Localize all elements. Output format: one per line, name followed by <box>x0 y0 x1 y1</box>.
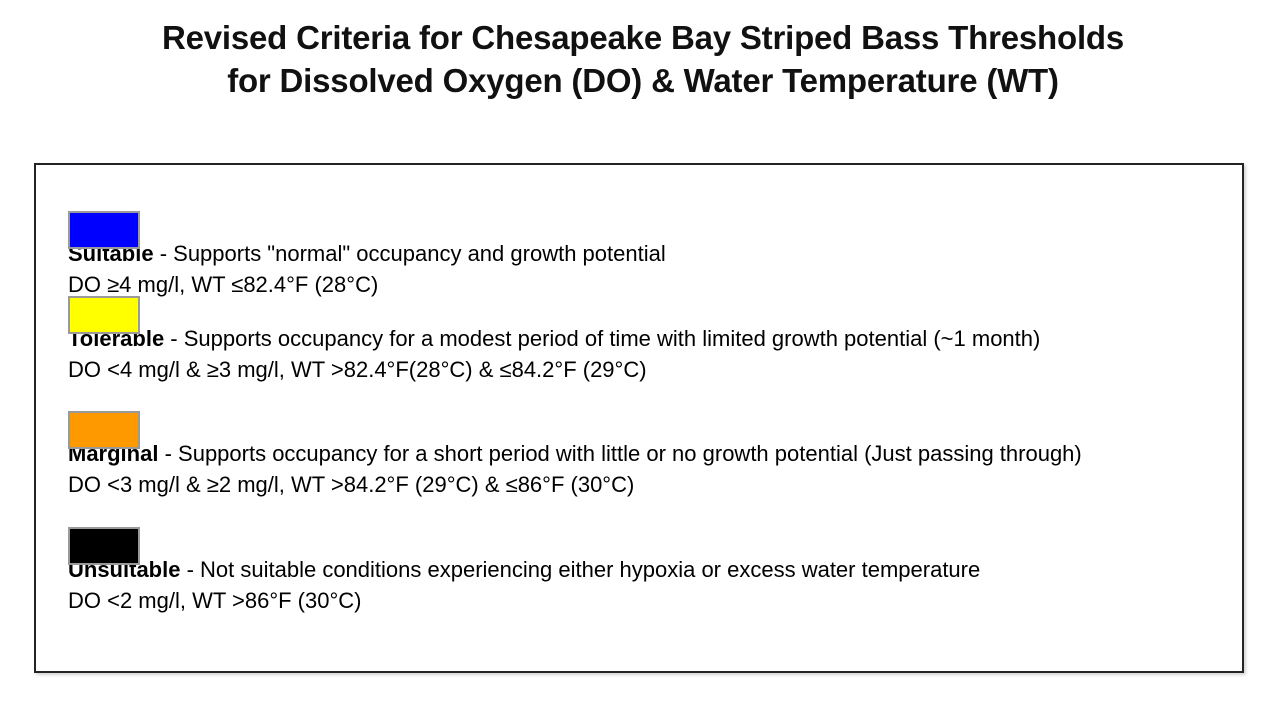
legend-description-marginal: Marginal - Supports occupancy for a shor… <box>68 438 1228 469</box>
legend-separator-marginal: - <box>158 441 178 466</box>
legend-separator-tolerable: - <box>164 326 184 351</box>
legend-thresholds-marginal: DO <3 mg/l & ≥2 mg/l, WT >84.2°F (29°C) … <box>68 469 1228 500</box>
legend-item-suitable: Suitable - Supports "normal" occupancy a… <box>68 207 1228 300</box>
legend-list: Suitable - Supports "normal" occupancy a… <box>36 165 1242 671</box>
legend-separator-unsuitable: - <box>180 557 200 582</box>
page-title: Revised Criteria for Chesapeake Bay Stri… <box>30 16 1256 102</box>
color-swatch-suitable <box>68 211 140 249</box>
color-swatch-unsuitable <box>68 527 140 565</box>
legend-desc-text-unsuitable: Not suitable conditions experiencing eit… <box>200 557 980 582</box>
legend-text-suitable: Suitable - Supports "normal" occupancy a… <box>68 238 1228 300</box>
legend-item-marginal: Marginal - Supports occupancy for a shor… <box>68 407 1228 500</box>
legend-separator-suitable: - <box>154 241 174 266</box>
legend-description-suitable: Suitable - Supports "normal" occupancy a… <box>68 238 1228 269</box>
legend-item-tolerable: Tolerable - Supports occupancy for a mod… <box>68 292 1228 385</box>
color-swatch-marginal <box>68 411 140 449</box>
slide-canvas: Revised Criteria for Chesapeake Bay Stri… <box>0 0 1286 716</box>
legend-text-marginal: Marginal - Supports occupancy for a shor… <box>68 438 1228 500</box>
legend-text-tolerable: Tolerable - Supports occupancy for a mod… <box>68 323 1228 385</box>
legend-thresholds-tolerable: DO <4 mg/l & ≥3 mg/l, WT >82.4°F(28°C) &… <box>68 354 1228 385</box>
legend-description-tolerable: Tolerable - Supports occupancy for a mod… <box>68 323 1228 354</box>
legend-desc-text-marginal: Supports occupancy for a short period wi… <box>178 441 1082 466</box>
legend-thresholds-unsuitable: DO <2 mg/l, WT >86°F (30°C) <box>68 585 1228 616</box>
page-title-line-1: Revised Criteria for Chesapeake Bay Stri… <box>30 16 1256 59</box>
legend-desc-text-tolerable: Supports occupancy for a modest period o… <box>184 326 1041 351</box>
legend-panel: Suitable - Supports "normal" occupancy a… <box>34 163 1244 673</box>
legend-desc-text-suitable: Supports "normal" occupancy and growth p… <box>173 241 666 266</box>
legend-item-unsuitable: Unsuitable - Not suitable conditions exp… <box>68 523 1228 616</box>
color-swatch-tolerable <box>68 296 140 334</box>
legend-description-unsuitable: Unsuitable - Not suitable conditions exp… <box>68 554 1228 585</box>
legend-text-unsuitable: Unsuitable - Not suitable conditions exp… <box>68 554 1228 616</box>
page-title-line-2: for Dissolved Oxygen (DO) & Water Temper… <box>30 59 1256 102</box>
